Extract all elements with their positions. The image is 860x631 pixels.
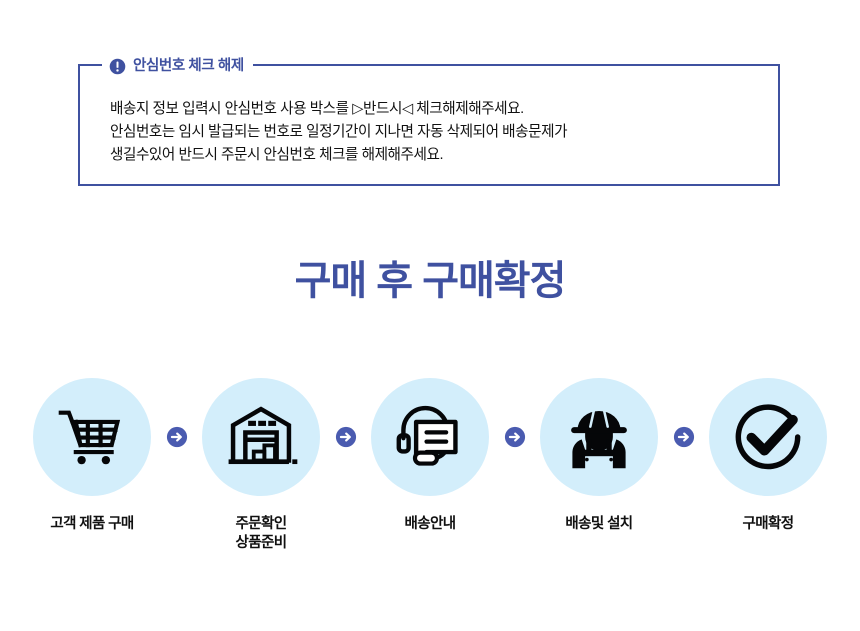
flow-step-5-label: 구매확정 (743, 515, 794, 534)
notice-box: 안심번호 체크 해제 배송지 정보 입력시 안심번호 사용 박스를 ▷반드시◁ … (78, 64, 780, 186)
notice-line-3: 생길수있어 반드시 주문시 안심번호 체크를 해제해주세요. (110, 144, 764, 167)
flow-step-3: 배송안내 (368, 378, 492, 534)
shopping-cart-icon (55, 400, 129, 474)
flow-step-1: 고객 제품 구매 (30, 378, 154, 534)
notice-line-2: 안심번호는 임시 발급되는 번호로 일정기간이 지나면 자동 삭제되어 배송문제… (110, 121, 764, 144)
flow-step-4-circle (540, 378, 658, 496)
flow-step-5: 구매확정 (706, 378, 830, 534)
flow-step-4-label: 배송및 설치 (565, 515, 632, 534)
flow-step-5-circle (709, 378, 827, 496)
notice-legend: 안심번호 체크 해제 (102, 54, 253, 78)
flow-step-2: 주문확인 상품준비 (199, 378, 323, 553)
flow-step-1-circle (33, 378, 151, 496)
notice-title: 안심번호 체크 해제 (133, 59, 244, 74)
promo-page: 안심번호 체크 해제 배송지 정보 입력시 안심번호 사용 박스를 ▷반드시◁ … (0, 0, 860, 631)
arrow-right-circle-icon (166, 426, 188, 448)
flow-step-2-circle (202, 378, 320, 496)
flow-step-4: 배송및 설치 (537, 378, 661, 534)
worker-helmet-icon (562, 401, 636, 473)
flow-connector-3 (502, 378, 528, 496)
flow-connector-1 (164, 378, 190, 496)
purchase-flow: 고객 제품 구매 (30, 378, 830, 553)
page-title: 구매 후 구매확정 (0, 258, 860, 304)
headset-document-icon (393, 400, 467, 474)
flow-step-2-label: 주문확인 상품준비 (236, 515, 287, 553)
flow-step-3-circle (371, 378, 489, 496)
check-circle-icon (730, 399, 806, 475)
flow-step-1-label: 고객 제품 구매 (50, 515, 133, 534)
arrow-right-circle-icon (504, 426, 526, 448)
flow-connector-2 (333, 378, 359, 496)
warehouse-icon (223, 402, 299, 472)
notice-line-1: 배송지 정보 입력시 안심번호 사용 박스를 ▷반드시◁ 체크해제해주세요. (110, 98, 764, 121)
flow-connector-4 (671, 378, 697, 496)
arrow-right-circle-icon (335, 426, 357, 448)
notice-body: 배송지 정보 입력시 안심번호 사용 박스를 ▷반드시◁ 체크해제해주세요. 안… (110, 98, 764, 167)
flow-step-3-label: 배송안내 (405, 515, 456, 534)
exclamation-circle-icon (109, 58, 126, 75)
arrow-right-circle-icon (673, 426, 695, 448)
